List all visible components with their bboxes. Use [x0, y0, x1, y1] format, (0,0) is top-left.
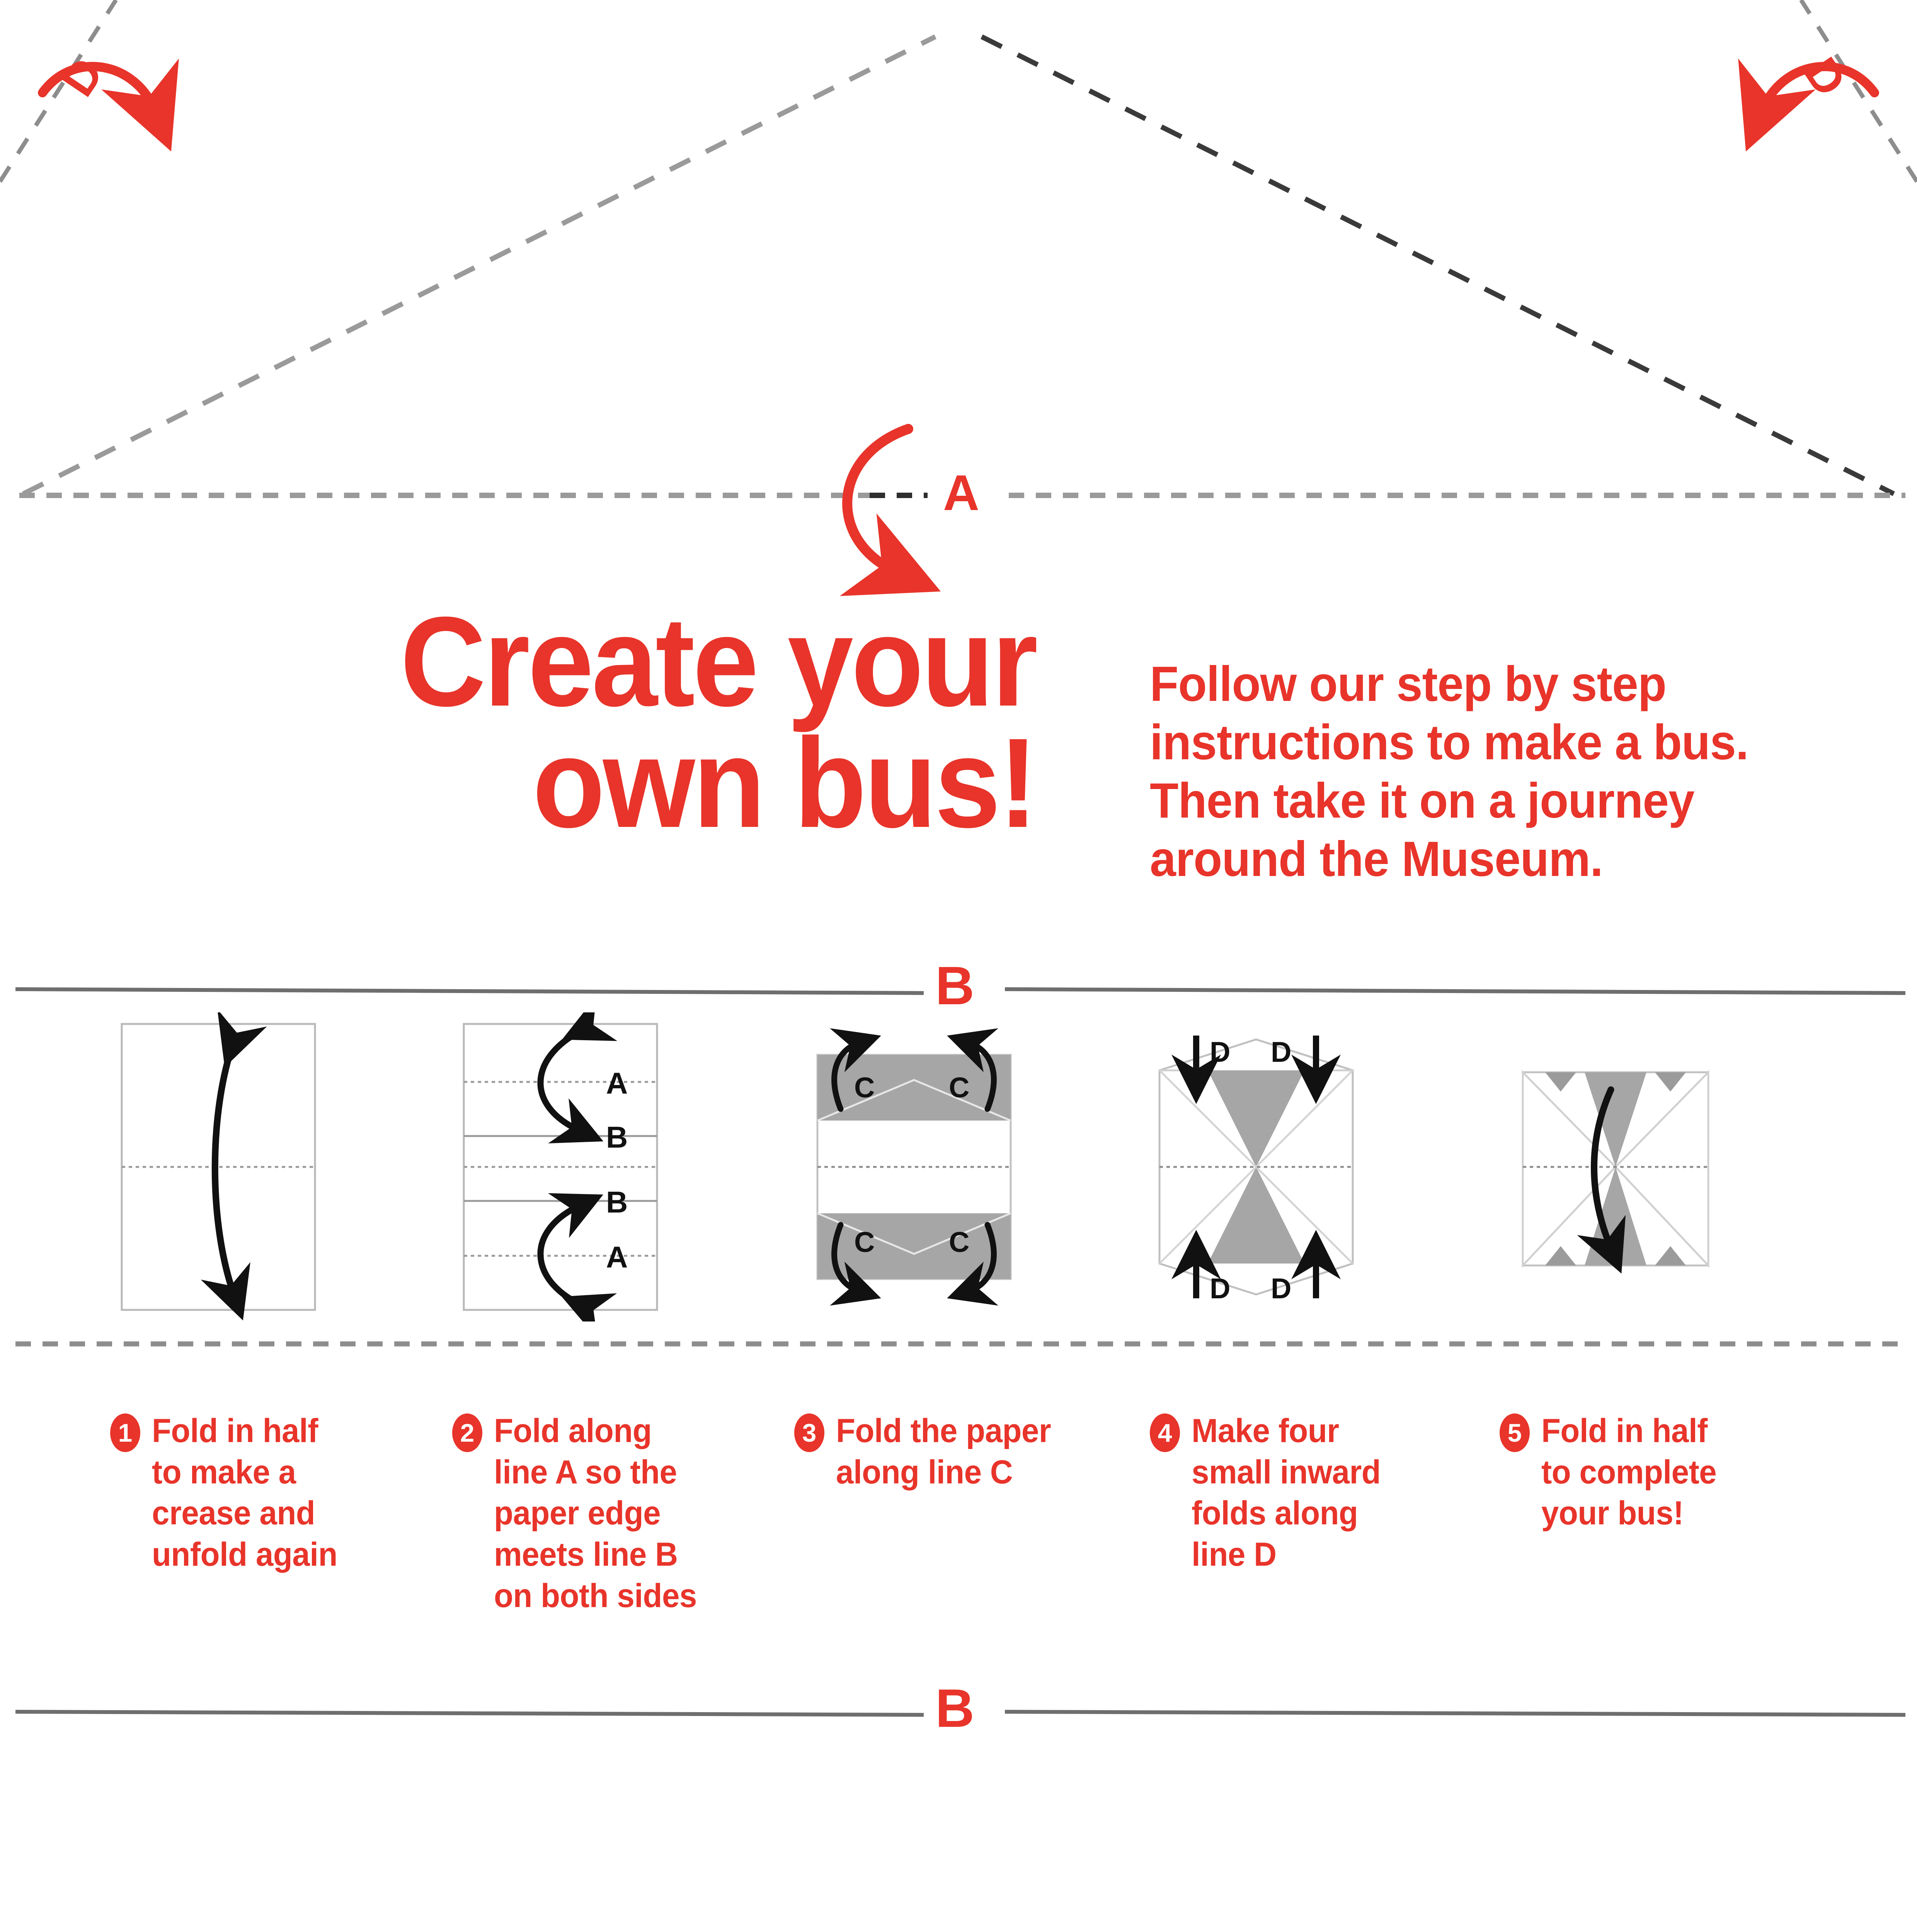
step-4-line-2: small inward: [1192, 1452, 1445, 1493]
step-5-line-2: to complete: [1541, 1452, 1795, 1493]
intro-text: Follow our step by step instructions to …: [1150, 655, 1774, 888]
svg-text:C: C: [949, 1071, 969, 1104]
step-5-line-1: Fold in half: [1541, 1410, 1795, 1452]
step-1-line-2: to make a: [152, 1452, 406, 1493]
fold-label-a-top: A: [943, 464, 979, 522]
step-1-line-4: unfold again: [152, 1534, 406, 1575]
step-2-line-4: meets line B: [494, 1534, 748, 1575]
step-2-line-5: on both sides: [494, 1575, 748, 1617]
diagram-panel-5: [1496, 1012, 1735, 1321]
intro-line-4: around the Museum.: [1150, 830, 1774, 888]
fold-label-b-lower: B: [935, 1677, 974, 1740]
fold-line-b-lower-right: [1005, 1712, 1905, 1715]
svg-text:C: C: [854, 1226, 875, 1258]
step-item-3: 3 Fold the paper along line C: [794, 1410, 1142, 1493]
diagram-panel-4: D D D D: [1136, 1012, 1376, 1321]
svg-text:A: A: [606, 1066, 628, 1100]
step-text-5: Fold in half to complete your bus!: [1541, 1410, 1795, 1534]
step-3-line-1: Fold the paper: [836, 1410, 1127, 1452]
step-text-2: Fold along line A so the paper edge meet…: [494, 1410, 748, 1616]
svg-text:D: D: [1271, 1272, 1291, 1304]
svg-text:A: A: [606, 1240, 628, 1274]
intro-line-3: Then take it on a journey: [1150, 772, 1774, 830]
step-3-line-2: along line C: [836, 1452, 1127, 1493]
step-4-line-4: line D: [1192, 1534, 1445, 1575]
fold-line-b-upper-right: [1005, 989, 1905, 993]
fold-arrow-a-top: [847, 429, 908, 572]
step-number-1: 1: [110, 1413, 140, 1452]
step-2-line-1: Fold along: [494, 1410, 748, 1452]
step-5-line-3: your bus!: [1541, 1493, 1795, 1534]
fold-label-d-top-right: D: [1794, 48, 1857, 105]
step-number-4: 4: [1150, 1413, 1180, 1452]
svg-text:D: D: [1271, 1036, 1291, 1068]
title-line-2: own bus!: [227, 722, 1036, 844]
fold-label-d-top-left: D: [51, 48, 114, 105]
step-item-5: 5 Fold in half to complete your bus!: [1500, 1410, 1809, 1534]
instruction-diagram-strip: A B B A C C C C: [0, 1012, 1917, 1329]
diagram-panel-1: [110, 1012, 327, 1321]
svg-text:D: D: [1210, 1036, 1230, 1068]
title-line-1: Create your: [227, 601, 1036, 722]
step-caption-list: 1 Fold in half to make a crease and unfo…: [0, 1410, 1917, 1642]
step-text-1: Fold in half to make a crease and unfold…: [152, 1410, 406, 1575]
intro-line-1: Follow our step by step: [1150, 655, 1774, 713]
step-item-2: 2 Fold along line A so the paper edge me…: [452, 1410, 761, 1616]
step-2-line-3: paper edge: [494, 1493, 748, 1534]
step-1-line-3: crease and: [152, 1493, 406, 1534]
diagram-panel-2: A B B A: [452, 1012, 669, 1321]
svg-text:D: D: [1210, 1272, 1230, 1304]
page-title: Create your own bus!: [227, 601, 1036, 843]
fold-label-b-upper: B: [935, 954, 974, 1017]
svg-text:C: C: [854, 1071, 875, 1104]
step-1-line-1: Fold in half: [152, 1410, 406, 1452]
fold-line-top-left-diagonal: [23, 37, 935, 494]
step-2-line-2: line A so the: [494, 1452, 748, 1493]
step-item-1: 1 Fold in half to make a crease and unfo…: [110, 1410, 419, 1575]
step-number-2: 2: [452, 1413, 482, 1452]
svg-text:C: C: [949, 1226, 969, 1258]
svg-text:B: B: [606, 1185, 628, 1219]
step-text-3: Fold the paper along line C: [836, 1410, 1127, 1493]
diagram-panel-3: C C C C: [794, 1012, 1034, 1321]
step-item-4: 4 Make four small inward folds along lin…: [1150, 1410, 1459, 1575]
step-number-3: 3: [794, 1413, 824, 1452]
step-4-line-3: folds along: [1192, 1493, 1445, 1534]
fold-line-b-upper-left: [15, 989, 924, 993]
fold-line-top-right-diagonal: [982, 37, 1894, 494]
fold-line-b-lower-left: [15, 1712, 924, 1715]
svg-text:B: B: [606, 1120, 628, 1154]
step-text-4: Make four small inward folds along line …: [1192, 1410, 1445, 1575]
step-number-5: 5: [1500, 1413, 1530, 1452]
step-4-line-1: Make four: [1192, 1410, 1445, 1452]
intro-line-2: instructions to make a bus.: [1150, 713, 1774, 772]
